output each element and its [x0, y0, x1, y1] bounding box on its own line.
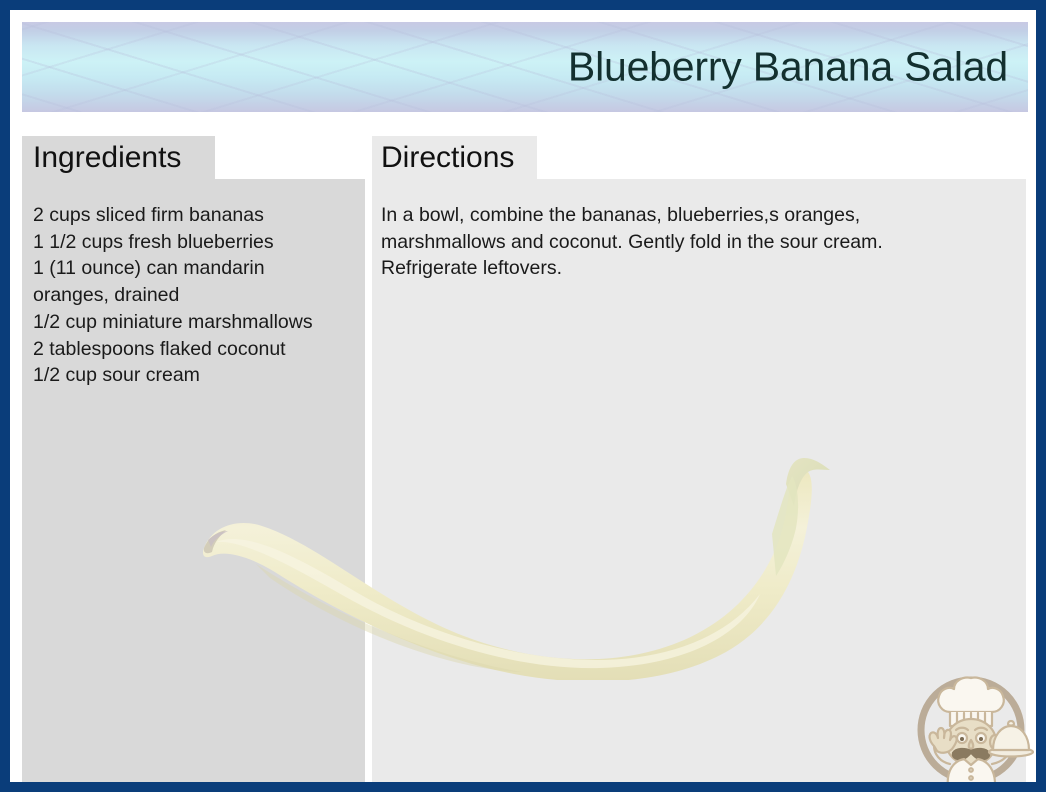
directions-heading-label: Directions	[381, 143, 514, 173]
recipe-slide: Blueberry Banana Salad Ingredients 2 cup…	[0, 0, 1046, 792]
list-item: 1 (11 ounce) can mandarin	[33, 255, 359, 282]
directions-heading-tab: Directions	[372, 136, 537, 179]
ingredients-panel: 2 cups sliced firm bananas 1 1/2 cups fr…	[22, 179, 365, 791]
ingredients-heading-tab: Ingredients	[22, 136, 215, 179]
ingredients-list: 2 cups sliced firm bananas 1 1/2 cups fr…	[33, 202, 359, 389]
list-item: 2 cups sliced firm bananas	[33, 202, 359, 229]
ingredients-heading-label: Ingredients	[33, 143, 181, 173]
list-item: 1/2 cup sour cream	[33, 362, 359, 389]
list-item: 1/2 cup miniature marshmallows	[33, 309, 359, 336]
page-title: Blueberry Banana Salad	[568, 44, 1008, 89]
directions-panel: In a bowl, combine the bananas, blueberr…	[372, 179, 1026, 791]
directions-text: In a bowl, combine the bananas, blueberr…	[381, 202, 941, 282]
header-banner: Blueberry Banana Salad	[22, 22, 1028, 112]
list-item: 1 1/2 cups fresh blueberries	[33, 229, 359, 256]
list-item: oranges, drained	[33, 282, 359, 309]
list-item: 2 tablespoons flaked coconut	[33, 336, 359, 363]
